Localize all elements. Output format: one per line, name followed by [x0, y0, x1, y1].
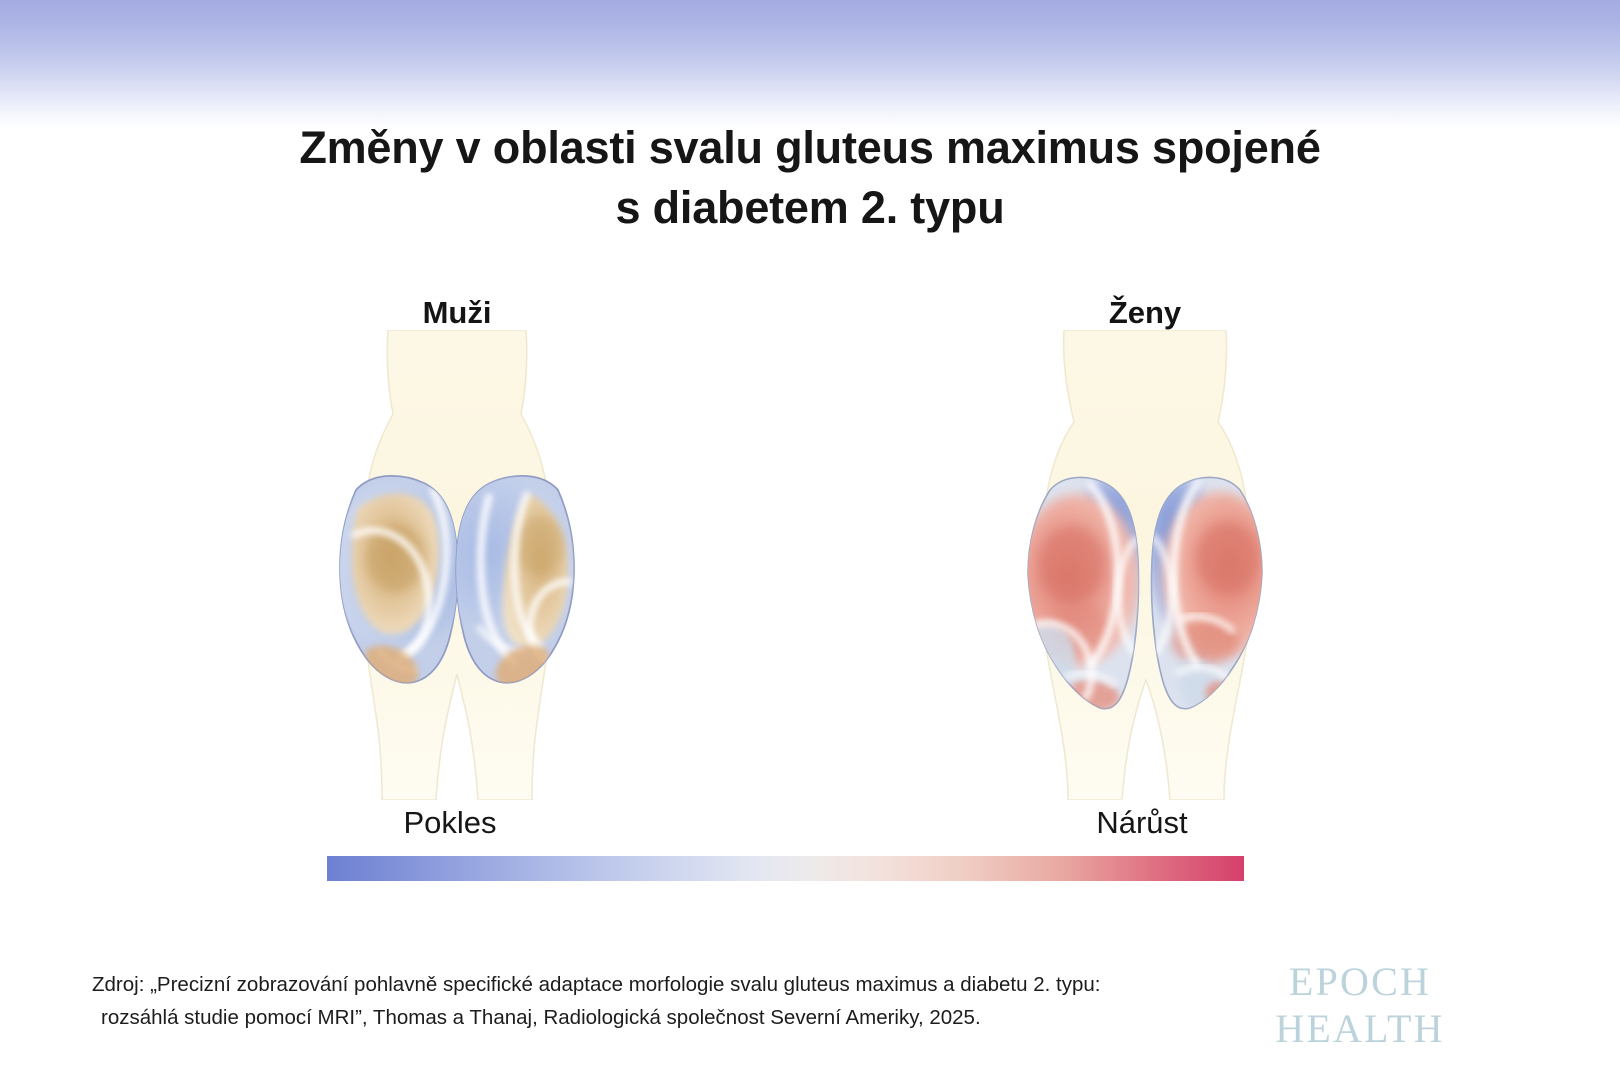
brand-logo-epoch-health: EPOCH HEALTH	[1210, 958, 1510, 1052]
panel-caption-men: Muži	[307, 295, 607, 331]
page-title-line-2: s diabetem 2. typu	[0, 178, 1620, 238]
legend-color-gradient-bar	[327, 856, 1244, 881]
source-line-1: Zdroj: „Precizní zobrazování pohlavně sp…	[92, 968, 1182, 1001]
heatmap-region-women-right	[1149, 477, 1278, 711]
header-gradient-backdrop	[0, 0, 1620, 130]
source-citation: Zdroj: „Precizní zobrazování pohlavně sp…	[92, 968, 1182, 1034]
body-figure-men	[292, 330, 622, 800]
legend-label-decrease: Pokles	[340, 805, 560, 841]
page-title-line-1: Změny v oblasti svalu gluteus maximus sp…	[0, 118, 1620, 178]
heatmap-region-women-left	[1016, 477, 1141, 710]
panel-caption-women: Ženy	[995, 295, 1295, 331]
legend-label-increase: Nárůst	[1032, 805, 1252, 841]
infographic-canvas: Změny v oblasti svalu gluteus maximus sp…	[0, 0, 1620, 1080]
page-title: Změny v oblasti svalu gluteus maximus sp…	[0, 118, 1620, 238]
source-line-2: rozsáhlá studie pomocí MRI”, Thomas a Th…	[92, 1001, 1182, 1034]
body-figure-women	[980, 330, 1310, 800]
